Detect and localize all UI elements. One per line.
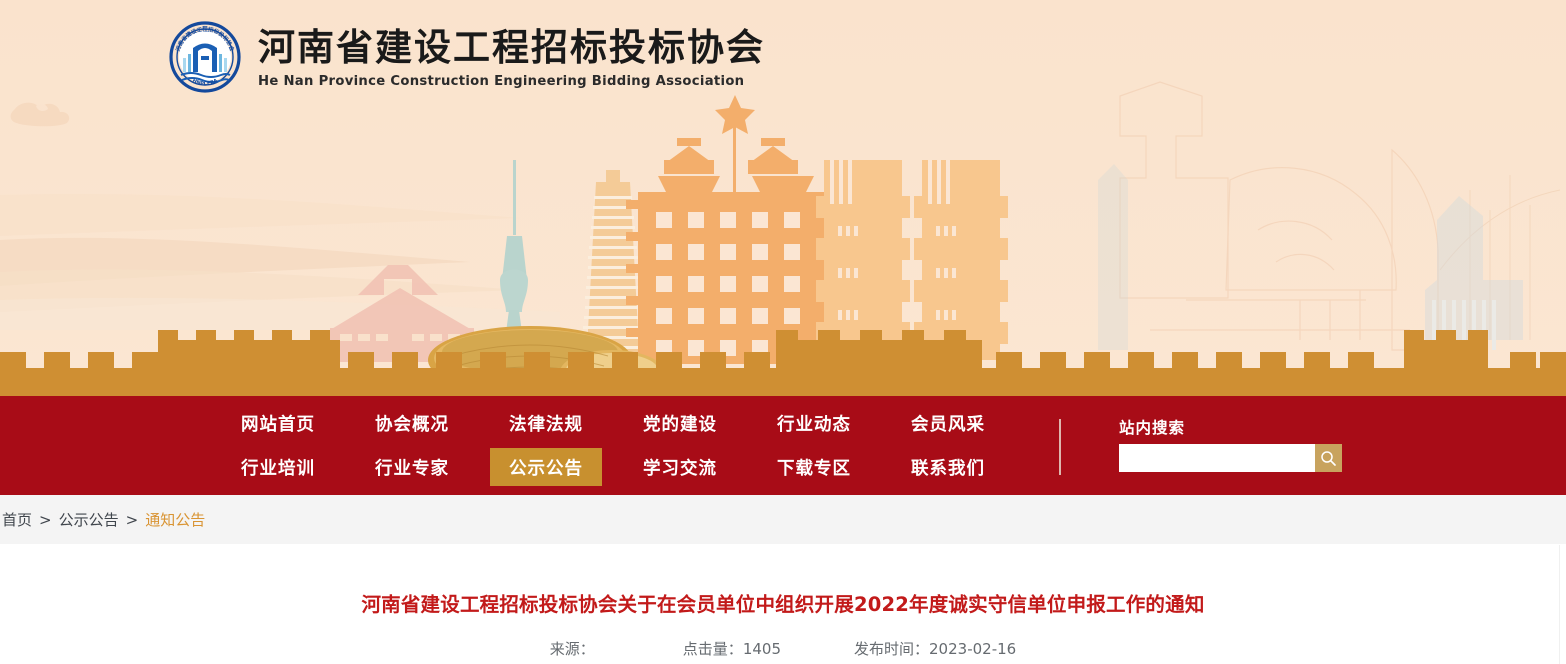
article-views-value: 1405 [743, 640, 781, 658]
site-title-block: 河南省建设工程招标投标协会 He Nan Province Constructi… [258, 25, 765, 90]
article-views-label: 点击量： [683, 640, 743, 658]
site-title-en: He Nan Province Construction Engineering… [258, 74, 765, 89]
search-input[interactable] [1119, 444, 1315, 472]
search-label: 站内搜索 [1119, 416, 1342, 438]
article-meta: 来源： 点击量：1405 发布时间：2023-02-16 [0, 638, 1566, 659]
nav-item-6[interactable]: 行业培训 [222, 448, 334, 486]
nav-item-0[interactable]: 网站首页 [222, 404, 334, 442]
search-icon [1320, 450, 1337, 467]
breadcrumb-bar: 首页>公示公告>通知公告 [0, 495, 1566, 544]
nav-item-2[interactable]: 法律法规 [490, 404, 602, 442]
breadcrumb-separator: > [39, 511, 52, 529]
site-logo-and-title[interactable]: 河南省建设工程招标投标协会 HNPCEBA 河南省建设工程招标投标协会 He N… [168, 20, 765, 94]
search-button[interactable] [1315, 444, 1342, 472]
article-source: 来源： [550, 638, 595, 659]
breadcrumb-item-0[interactable]: 首页 [2, 509, 32, 530]
breadcrumb-item-1[interactable]: 公示公告 [59, 509, 119, 530]
article-title: 河南省建设工程招标投标协会关于在会员单位中组织开展2022年度诚实守信单位申报工… [0, 591, 1566, 618]
site-banner: 河南省建设工程招标投标协会 HNPCEBA 河南省建设工程招标投标协会 He N… [0, 0, 1566, 396]
main-navigation: 网站首页协会概况法律法规党的建设行业动态会员风采行业培训行业专家公示公告学习交流… [0, 396, 1566, 495]
site-title-cn: 河南省建设工程招标投标协会 [258, 27, 765, 70]
article-published-label: 发布时间： [854, 640, 929, 658]
breadcrumb: 首页>公示公告>通知公告 [0, 509, 205, 530]
nav-item-7[interactable]: 行业专家 [356, 448, 468, 486]
nav-item-11[interactable]: 联系我们 [892, 448, 1004, 486]
page-root: 河南省建设工程招标投标协会 HNPCEBA 河南省建设工程招标投标协会 He N… [0, 0, 1566, 664]
article-published: 发布时间：2023-02-16 [854, 638, 1016, 659]
article-source-label: 来源： [550, 640, 595, 658]
nav-item-4[interactable]: 行业动态 [758, 404, 870, 442]
nav-item-5[interactable]: 会员风采 [892, 404, 1004, 442]
article-section: 河南省建设工程招标投标协会关于在会员单位中组织开展2022年度诚实守信单位申报工… [0, 544, 1566, 664]
nav-item-3[interactable]: 党的建设 [624, 404, 736, 442]
nav-item-9[interactable]: 学习交流 [624, 448, 736, 486]
nav-item-8[interactable]: 公示公告 [490, 448, 602, 486]
page-right-edge [1559, 545, 1566, 664]
breadcrumb-item-2: 通知公告 [145, 509, 205, 530]
association-emblem-icon: 河南省建设工程招标投标协会 HNPCEBA [168, 20, 242, 94]
nav-divider [1059, 419, 1061, 475]
nav-item-10[interactable]: 下载专区 [758, 448, 870, 486]
nav-menu-grid: 网站首页协会概况法律法规党的建设行业动态会员风采行业培训行业专家公示公告学习交流… [222, 404, 1026, 486]
breadcrumb-separator: > [126, 511, 139, 529]
nav-item-1[interactable]: 协会概况 [356, 404, 468, 442]
site-search: 站内搜索 [1119, 416, 1342, 472]
article-published-value: 2023-02-16 [929, 640, 1016, 658]
article-views: 点击量：1405 [683, 638, 781, 659]
